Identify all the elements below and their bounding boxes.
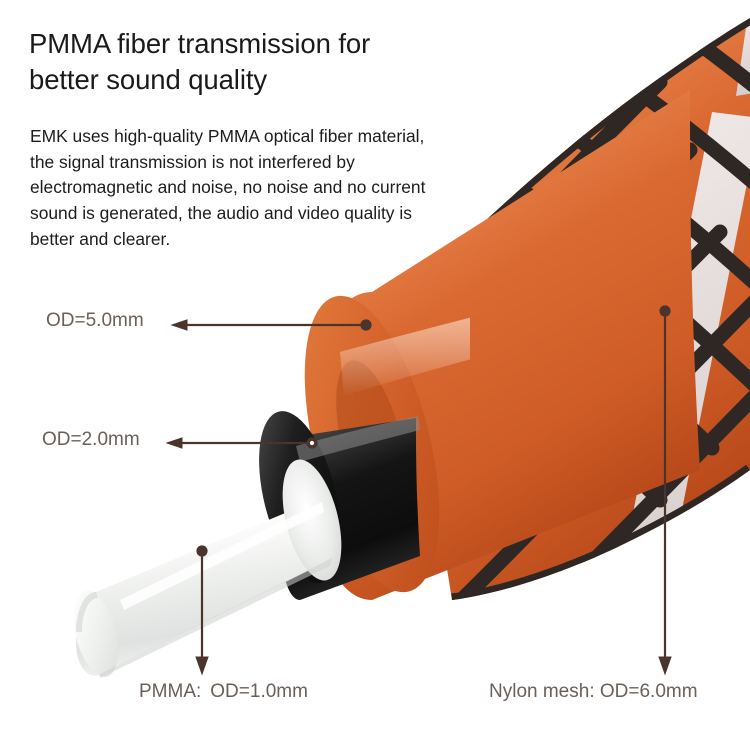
callout-label-od-2mm: OD=2.0mm (42, 429, 140, 451)
callout-label-od-5mm: OD=5.0mm (46, 310, 144, 332)
callout-label-nylon-name: Nylon mesh: (489, 681, 595, 702)
callout-label-pmma-value: OD=1.0mm (210, 681, 308, 702)
page-title-line-1: PMMA fiber transmission for (29, 28, 370, 59)
page-title: PMMA fiber transmission for better sound… (29, 26, 459, 98)
body-paragraph: EMK uses high-quality PMMA optical fiber… (30, 124, 442, 253)
text-layer: PMMA fiber transmission for better sound… (0, 0, 750, 750)
infographic-page: PMMA fiber transmission for better sound… (0, 0, 750, 750)
callout-label-nylon-value: OD=6.0mm (600, 681, 698, 702)
callout-label-pmma-name: PMMA: (139, 681, 201, 702)
callout-label-nylon-mesh: Nylon mesh: OD=6.0mm (489, 681, 698, 703)
callout-label-pmma: PMMA:OD=1.0mm (139, 681, 308, 703)
page-title-line-2: better sound quality (29, 64, 267, 95)
